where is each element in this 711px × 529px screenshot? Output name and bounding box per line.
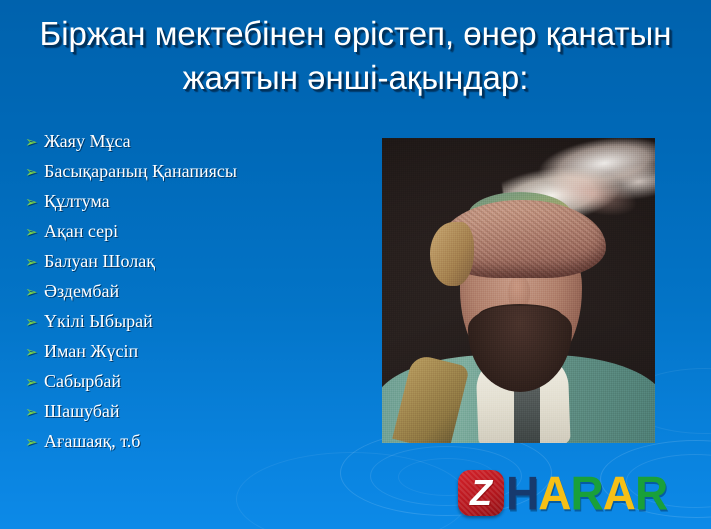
- logo-badge: Z: [458, 470, 504, 516]
- bullet-arrow-icon: ➢: [16, 158, 44, 188]
- bullet-arrow-icon: ➢: [16, 248, 44, 278]
- list-item: ➢ Сабырбай: [16, 366, 366, 396]
- bullet-list: ➢ Жаяу Мұса ➢ Басықараның Қанапиясы ➢ Құ…: [16, 126, 366, 456]
- logo-letter-a1: A: [538, 470, 570, 517]
- logo-letter-a2: A: [603, 470, 635, 517]
- list-item: ➢ Әздембай: [16, 276, 366, 306]
- logo-badge-letter: Z: [470, 473, 492, 513]
- list-item: ➢ Үкілі Ыбырай: [16, 306, 366, 336]
- list-item-label: Әздембай: [44, 276, 119, 306]
- list-item-label: Басықараның Қанапиясы: [44, 156, 237, 186]
- list-item: ➢ Ақан сері: [16, 216, 366, 246]
- list-item-label: Жаяу Мұса: [44, 126, 131, 156]
- list-item-label: Құлтума: [44, 186, 110, 216]
- list-item-label: Үкілі Ыбырай: [44, 306, 153, 336]
- bullet-arrow-icon: ➢: [16, 188, 44, 218]
- list-item: ➢ Басықараның Қанапиясы: [16, 156, 366, 186]
- list-item-label: Ақан сері: [44, 216, 118, 246]
- ripple-decoration: [236, 452, 468, 529]
- list-item-label: Ағашаяқ, т.б: [44, 426, 140, 456]
- bullet-arrow-icon: ➢: [16, 338, 44, 368]
- slide-title: Біржан мектебінен өрістеп, өнер қанатын …: [18, 12, 693, 100]
- zharar-logo[interactable]: Z H A R A R: [458, 470, 667, 516]
- list-item: ➢ Шашубай: [16, 396, 366, 426]
- bullet-arrow-icon: ➢: [16, 308, 44, 338]
- list-item-label: Балуан Шолақ: [44, 246, 155, 276]
- bullet-arrow-icon: ➢: [16, 428, 44, 458]
- list-item: ➢ Құлтума: [16, 186, 366, 216]
- logo-letter-r1: R: [570, 470, 602, 517]
- list-item-label: Сабырбай: [44, 366, 121, 396]
- bullet-arrow-icon: ➢: [16, 218, 44, 248]
- bullet-arrow-icon: ➢: [16, 398, 44, 428]
- portrait-image: [382, 138, 655, 443]
- list-item-label: Иман Жүсіп: [44, 336, 138, 366]
- bullet-arrow-icon: ➢: [16, 278, 44, 308]
- list-item-label: Шашубай: [44, 396, 120, 426]
- bullet-arrow-icon: ➢: [16, 128, 44, 158]
- list-item: ➢ Балуан Шолақ: [16, 246, 366, 276]
- photo-grain-overlay: [382, 138, 655, 443]
- bullet-arrow-icon: ➢: [16, 368, 44, 398]
- list-item: ➢ Ағашаяқ, т.б: [16, 426, 366, 456]
- list-item: ➢ Иман Жүсіп: [16, 336, 366, 366]
- logo-letter-r2: R: [635, 470, 667, 517]
- logo-letter-h: H: [506, 470, 538, 517]
- presentation-slide: Біржан мектебінен өрістеп, өнер қанатын …: [0, 0, 711, 529]
- list-item: ➢ Жаяу Мұса: [16, 126, 366, 156]
